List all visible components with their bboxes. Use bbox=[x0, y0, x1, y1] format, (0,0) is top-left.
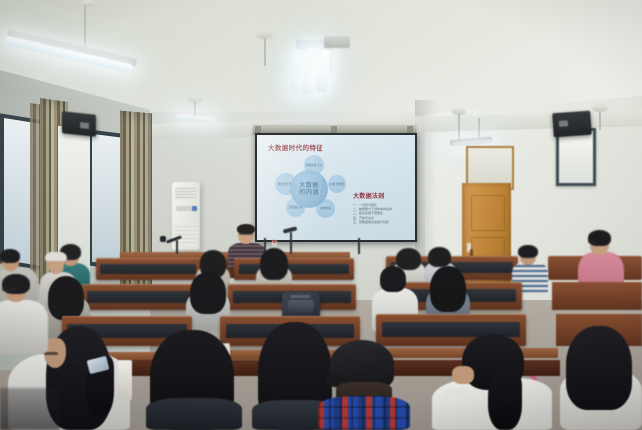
screen-leg-right bbox=[358, 238, 360, 254]
lecture-hall-photo: 大数据时代的特征 数据体量 巨大 数据类型 繁多 价值 密度低 处理速度 快 时… bbox=[0, 0, 642, 430]
light-rod-4 bbox=[458, 114, 460, 140]
bench-row4-left bbox=[82, 284, 198, 310]
bench-row5-left bbox=[96, 258, 200, 280]
presenter-glasses bbox=[239, 233, 253, 235]
ceiling-cap-1 bbox=[80, 0, 96, 7]
wall-speaker-right bbox=[552, 111, 592, 138]
bench-row4-far-right bbox=[552, 282, 642, 310]
projector bbox=[324, 36, 350, 48]
lamp-head bbox=[160, 236, 166, 242]
ceiling-cap-5 bbox=[592, 104, 608, 112]
microphone-stand bbox=[290, 232, 292, 254]
projection-screen: 大数据时代的特征 数据体量 巨大 数据类型 繁多 价值 密度低 处理速度 快 时… bbox=[255, 133, 417, 242]
light-rod-1 bbox=[84, 2, 86, 46]
wall-speaker-left bbox=[62, 111, 96, 137]
lamp-pole bbox=[176, 240, 178, 254]
slide-side-line-5: 五、用数据驱动决策与创新 bbox=[353, 220, 411, 224]
slide-surface: 大数据时代的特征 数据体量 巨大 数据类型 繁多 价值 密度低 处理速度 快 时… bbox=[257, 135, 415, 240]
slide-side-heading: 大数据法则 bbox=[353, 191, 385, 200]
plaid-shirt bbox=[318, 396, 410, 430]
light-rod-2 bbox=[264, 38, 266, 66]
bench-row5-center bbox=[234, 258, 354, 280]
foreground-shadow bbox=[0, 388, 60, 430]
white-folder bbox=[118, 360, 132, 400]
slide-bubble-right: 价值 密度低 bbox=[328, 175, 346, 193]
light-rod-6 bbox=[599, 112, 601, 130]
screen-glare bbox=[257, 135, 327, 240]
